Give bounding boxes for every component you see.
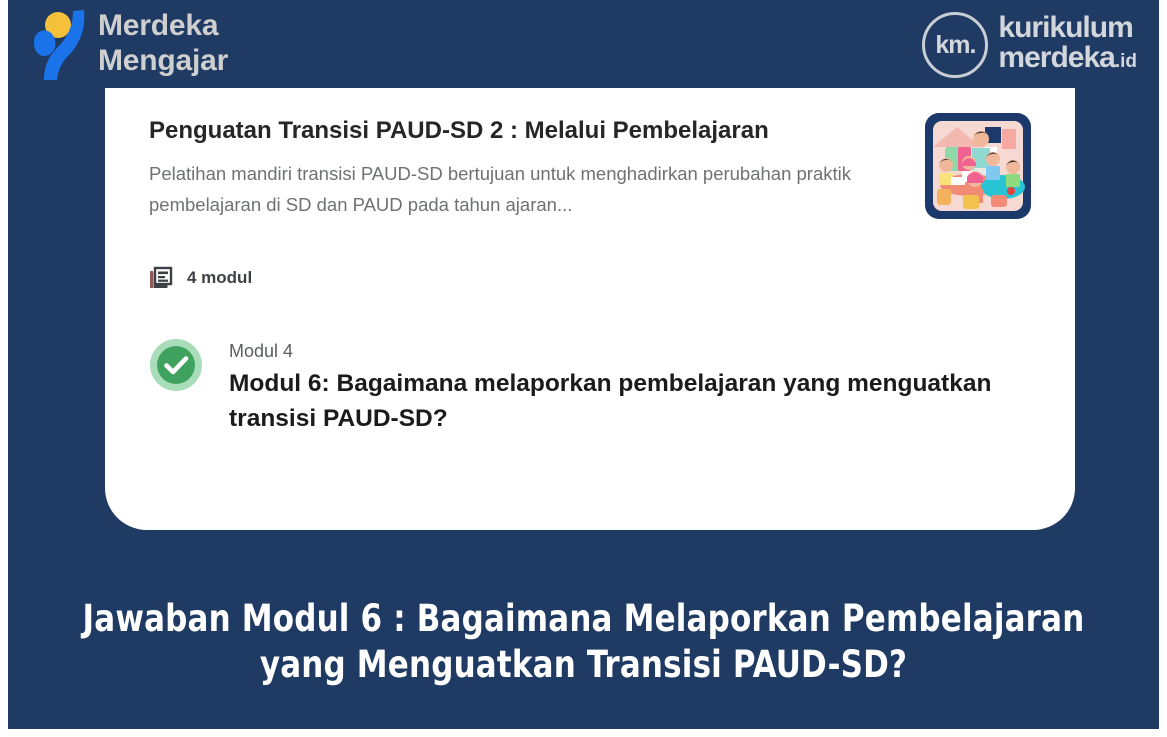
modules-stack-icon bbox=[149, 266, 173, 290]
merdeka-mengajar-person-icon bbox=[30, 6, 102, 84]
module-index-label: Modul 4 bbox=[229, 340, 1019, 362]
kurikulum-merdeka-logo: km. kurikulum merdeka.id bbox=[922, 12, 1137, 78]
partner-logo-suffix: .id bbox=[1115, 51, 1137, 72]
course-card[interactable]: Penguatan Transisi PAUD-SD 2 : Melalui P… bbox=[105, 88, 1075, 530]
screenshot-root: Merdeka Mengajar km. kurikulum merdeka.i… bbox=[0, 0, 1167, 737]
current-module-text: Modul 4 Modul 6: Bagaimana melaporkan pe… bbox=[229, 336, 1019, 436]
headline-line-1: Jawaban Modul 6 : Bagaimana Melaporkan P… bbox=[48, 596, 1118, 642]
current-module-row[interactable]: Modul 4 Modul 6: Bagaimana melaporkan pe… bbox=[149, 336, 1019, 436]
course-title: Penguatan Transisi PAUD-SD 2 : Melalui P… bbox=[149, 116, 909, 146]
km-circle-icon: km. bbox=[922, 12, 988, 78]
check-circle-icon bbox=[149, 338, 203, 392]
kurikulum-merdeka-wordmark: kurikulum merdeka.id bbox=[998, 13, 1137, 77]
bottom-headline: Jawaban Modul 6 : Bagaimana Melaporkan P… bbox=[48, 596, 1118, 688]
brand-wordmark: Merdeka Mengajar bbox=[98, 8, 228, 78]
course-card-content: Penguatan Transisi PAUD-SD 2 : Melalui P… bbox=[105, 88, 1075, 530]
module-name-label: Modul 6: Bagaimana melaporkan pembelajar… bbox=[229, 366, 1019, 436]
brand-line-1: Merdeka bbox=[98, 8, 228, 43]
partner-logo-line-1: kurikulum bbox=[998, 13, 1137, 43]
module-count-row: 4 modul bbox=[149, 266, 252, 290]
partner-logo-line-2-wrap: merdeka.id bbox=[998, 43, 1137, 77]
headline-line-2: yang Menguatkan Transisi PAUD-SD? bbox=[48, 642, 1118, 688]
course-description: Pelatihan mandiri transisi PAUD-SD bertu… bbox=[149, 158, 889, 220]
brand-line-2: Mengajar bbox=[98, 43, 228, 78]
page-header: Merdeka Mengajar km. kurikulum merdeka.i… bbox=[8, 0, 1159, 88]
partner-logo-line-2: merdeka bbox=[998, 41, 1114, 74]
module-count-label: 4 modul bbox=[187, 268, 252, 288]
classroom-illustration-thumbnail bbox=[925, 113, 1031, 219]
